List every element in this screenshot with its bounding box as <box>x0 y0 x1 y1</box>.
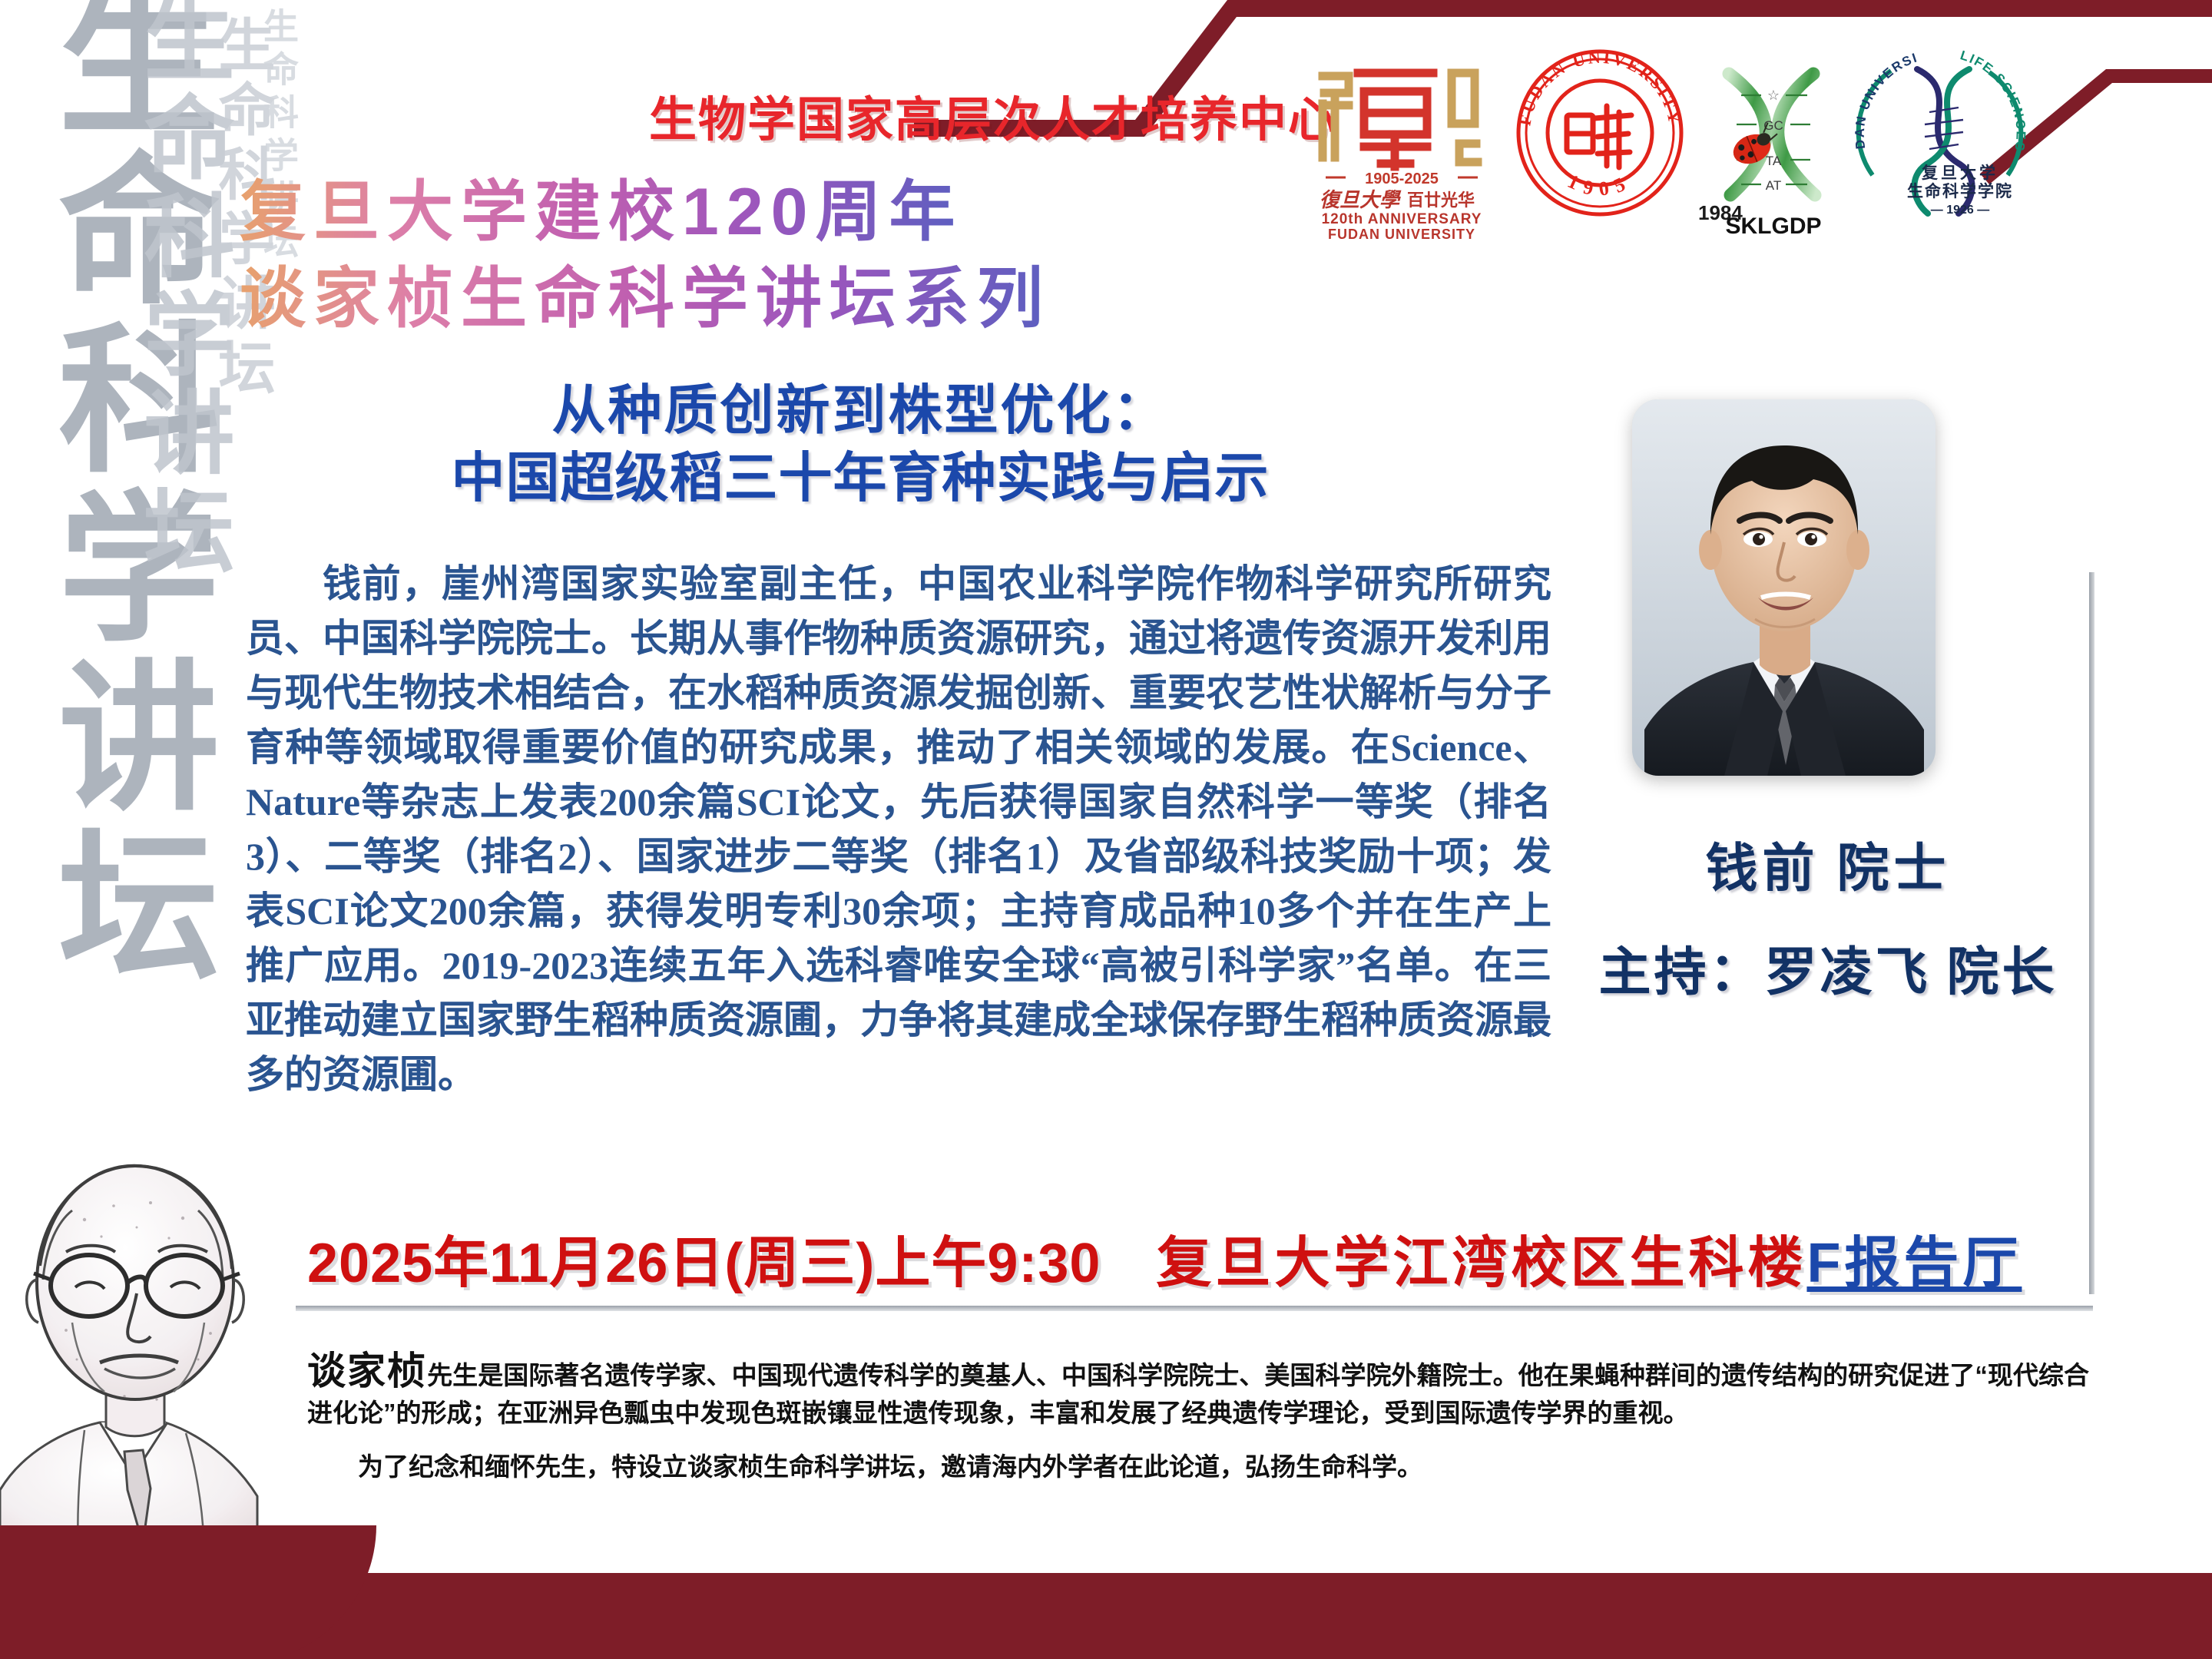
vertical-divider-rule <box>2089 572 2094 1294</box>
bottom-maroon-band <box>0 1573 2212 1659</box>
sklgdp-logo: ☆ GC TA AT 1984 SKLGDP <box>1686 60 1863 237</box>
speaker-bio-paragraph: 钱前，崖州湾国家实验室副主任，中国农业科学院作物科学研究所研究员、中国科学院院士… <box>246 557 1551 1102</box>
fudan-university-seal-logo: FUDAN UNIVERSITY 1905 <box>1512 45 1688 221</box>
speaker-photo <box>1632 399 1936 776</box>
talk-title: 从种质创新到株型优化： 中国超级稻三十年育种实践与启示 <box>369 376 1352 512</box>
svg-text:AT: AT <box>1766 178 1781 193</box>
svg-text:FUDAN UNIVERSITY: FUDAN UNIVERSITY <box>1328 227 1475 242</box>
svg-text:120th ANNIVERSARY: 120th ANNIVERSARY <box>1322 211 1482 227</box>
talk-title-line1: 从种质创新到株型优化： <box>369 376 1352 444</box>
host-name: 主持：罗凌飞 院长 <box>1551 929 2104 1005</box>
svg-text:復旦大學: 復旦大學 <box>1320 189 1402 211</box>
tan-jiazhen-sketch-portrait <box>0 1129 269 1559</box>
svg-text:复旦大学: 复旦大学 <box>1921 164 1998 182</box>
lecture-series-title-line2: 谈家桢生命科学讲坛系列 <box>240 244 1051 340</box>
event-date-time: 2025年11月26日(周三)上午9:30 <box>307 1217 1101 1298</box>
svg-text:LIFE SCIENCES: LIFE SCIENCES <box>1959 48 2028 153</box>
horizontal-divider-rule <box>296 1306 2093 1311</box>
watermark-text-2: 生命科学讲坛 <box>115 0 247 582</box>
footer-paragraph-1-text: 先生是国际著名遗传学家、中国现代遗传科学的奠基人、中国科学院院士、美国科学院外籍… <box>307 1361 2089 1427</box>
poster-root: 生命科学讲坛 生命科学讲坛 生命科学讲坛 生命科学讲坛 <box>0 0 2212 1659</box>
fudan-120th-anniversary-logo: 1905-2025 復旦大學 百廿光华 120th ANNIVERSARY FU… <box>1306 50 1498 242</box>
center-name-heading: 生物学国家高层次人才培养中心 <box>649 81 1337 150</box>
speaker-name: 钱前 院士 <box>1598 826 2058 902</box>
watermark-text-1: 生命科学讲坛 <box>8 0 241 991</box>
anniversary-title-line1: 复旦大学建校120周年 <box>240 157 963 253</box>
svg-text:TA: TA <box>1766 154 1782 168</box>
svg-text:FUDAN UNIVERSITY: FUDAN UNIVERSITY <box>1843 38 1920 150</box>
footer-paragraph-1: 谈家桢先生是国际著名遗传学家、中国现代遗传科学的奠基人、中国科学院院士、美国科学… <box>307 1346 2089 1430</box>
fudan-school-of-life-sciences-logo: FUDAN UNIVERSITY LIFE SCIENCES 复旦大学 生命科学… <box>1843 38 2035 230</box>
logo-row: 1905-2025 復旦大學 百廿光华 120th ANNIVERSARY FU… <box>1306 38 2074 238</box>
event-venue: 复旦大学江湾校区生科楼 <box>1156 1217 1806 1298</box>
footer-tan-jiazhen-name: 谈家桢 <box>307 1349 427 1392</box>
svg-text:百廿光华: 百廿光华 <box>1407 190 1475 210</box>
svg-text:1905: 1905 <box>1565 170 1636 200</box>
footer-paragraph-2: 为了纪念和缅怀先生，特设立谈家桢生命科学讲坛，邀请海内外学者在此论道，弘扬生命科… <box>307 1450 2089 1484</box>
event-hall: F报告厅 <box>1806 1217 2022 1298</box>
svg-text:SKLGDP: SKLGDP <box>1725 214 1821 237</box>
anniversary-years: 1905-2025 <box>1365 171 1439 187</box>
svg-text:☆: ☆ <box>1767 88 1780 103</box>
footer-about-tan-jiazhen: 谈家桢先生是国际著名遗传学家、中国现代遗传科学的奠基人、中国科学院院士、美国科学… <box>307 1346 2089 1503</box>
svg-text:— 1926 —: — 1926 — <box>1931 204 1989 217</box>
svg-text:生命科学学院: 生命科学学院 <box>1907 182 2013 200</box>
talk-title-line2: 中国超级稻三十年育种实践与启示 <box>369 444 1352 512</box>
event-datetime-venue: 2025年11月26日(周三)上午9:30 复旦大学江湾校区生科楼 F报告厅 <box>307 1215 2089 1300</box>
